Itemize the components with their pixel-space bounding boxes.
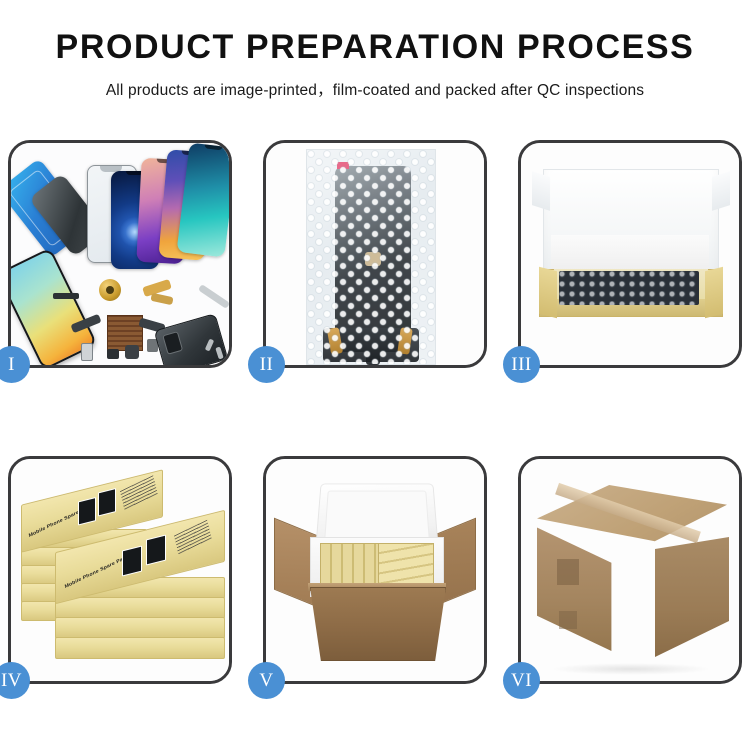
process-step-2[interactable]: II xyxy=(263,140,487,368)
bubble-wrap-bag xyxy=(306,149,436,365)
stacked-box xyxy=(55,637,225,659)
speaker-coil xyxy=(99,279,121,301)
stacked-box xyxy=(55,597,225,619)
bubble-wrapped-contents xyxy=(559,271,699,305)
carton-foam-scene xyxy=(266,459,484,681)
step-badge: IV xyxy=(0,662,30,699)
small-part-3 xyxy=(125,345,139,359)
page-title: PRODUCT PREPARATION PROCESS xyxy=(0,30,750,66)
bubble-wrap-scene xyxy=(266,143,484,365)
step-5-image xyxy=(266,459,484,681)
process-step-1[interactable]: I xyxy=(8,140,232,368)
bubble-texture xyxy=(307,150,435,364)
carton-face-left xyxy=(537,525,657,651)
carton-body xyxy=(310,587,446,661)
carton-seam-upper xyxy=(557,559,579,585)
step-2-image xyxy=(266,143,484,365)
foam-liner xyxy=(551,235,709,273)
phone-parts-scene xyxy=(11,143,229,365)
step-badge: V xyxy=(248,662,285,699)
inner-box-scene xyxy=(521,143,739,365)
box-thumb xyxy=(78,497,96,525)
process-step-6[interactable]: VI xyxy=(518,456,742,684)
sealed-carton xyxy=(537,485,727,653)
step-badge: III xyxy=(503,346,540,383)
page-subtitle: All products are image-printed，film-coat… xyxy=(0,78,750,100)
tray-side-left xyxy=(539,267,557,318)
carton-seam-lower xyxy=(559,611,577,629)
step-badge: I xyxy=(0,346,30,383)
box-thumb xyxy=(98,488,116,516)
process-step-5[interactable]: V xyxy=(263,456,487,684)
box-stack: Mobile Phone Spare Parts Mobile Phone Sp… xyxy=(21,481,225,667)
process-step-grid: I II xyxy=(8,140,742,684)
box-thumb xyxy=(122,546,142,577)
stacked-boxes-scene: Mobile Phone Spare Parts Mobile Phone Sp… xyxy=(11,459,229,681)
box-text-lines xyxy=(120,475,158,511)
small-part-2 xyxy=(107,349,119,359)
step-6-image xyxy=(521,459,739,681)
box-thumb xyxy=(146,535,166,566)
carton-shadow xyxy=(551,663,711,675)
sealed-carton-scene xyxy=(521,459,739,681)
step-badge: II xyxy=(248,346,285,383)
process-step-4[interactable]: Mobile Phone Spare Parts Mobile Phone Sp… xyxy=(8,456,232,684)
step-badge: VI xyxy=(503,662,540,699)
small-part-1 xyxy=(81,343,93,361)
lid-flap-left xyxy=(532,171,550,211)
lid-flap-right xyxy=(712,171,730,211)
carton-face-right xyxy=(655,537,729,657)
page-header: PRODUCT PREPARATION PROCESS All products… xyxy=(0,0,750,100)
box-label: Mobile Phone Spare Parts xyxy=(64,553,130,590)
box-text-lines xyxy=(174,520,212,556)
step-4-image: Mobile Phone Spare Parts Mobile Phone Sp… xyxy=(11,459,229,681)
process-step-3[interactable]: III xyxy=(518,140,742,368)
stacked-box xyxy=(55,617,225,639)
step-1-image xyxy=(11,143,229,365)
tray-side-right xyxy=(705,267,723,318)
earpiece-mesh xyxy=(53,293,79,299)
step-3-image xyxy=(521,143,739,365)
